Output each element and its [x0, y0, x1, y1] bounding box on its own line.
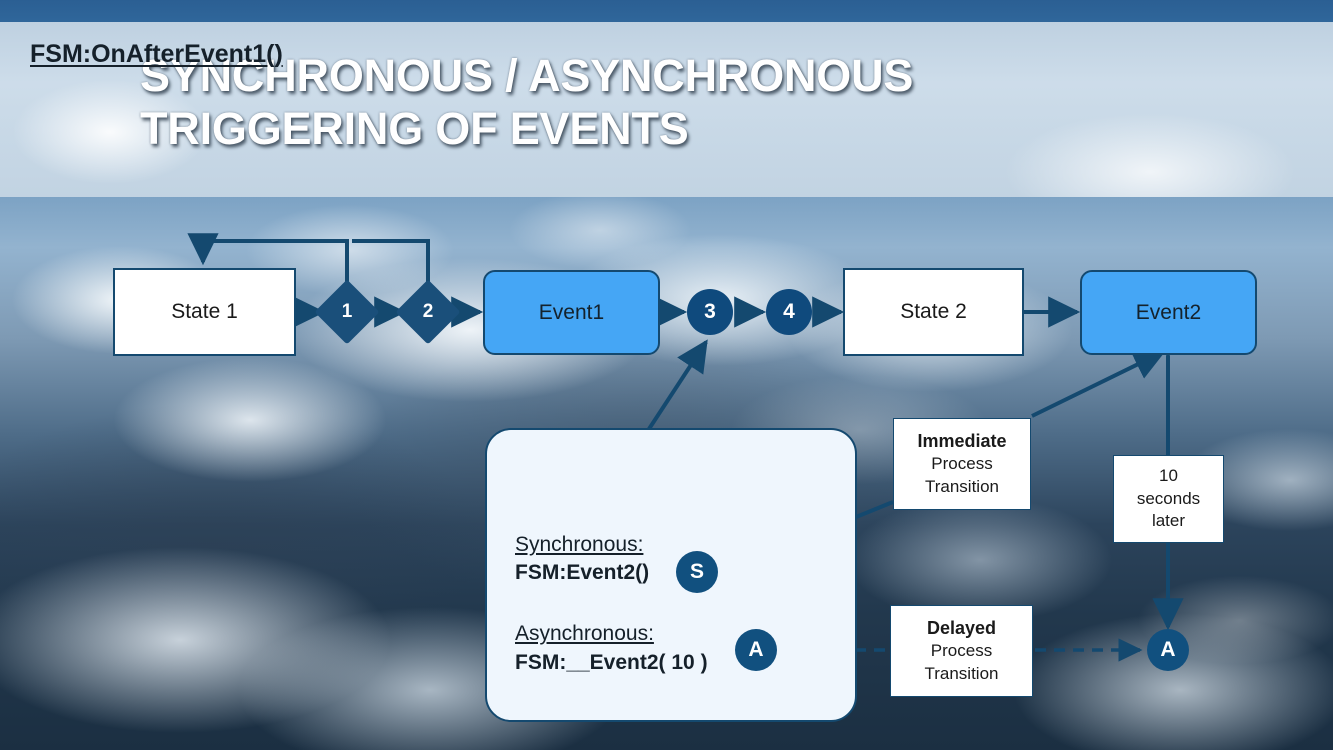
immediate-line-3: Transition — [925, 476, 999, 498]
delayed-title: Delayed — [927, 617, 996, 641]
delayed-marker-a[interactable]: A — [1147, 629, 1189, 671]
immediate-title: Immediate — [917, 430, 1006, 454]
sync-marker-s[interactable]: S — [676, 551, 718, 593]
timer-line-3: later — [1152, 510, 1185, 532]
decision-3-label: 3 — [704, 300, 716, 324]
event-1-label: Event1 — [539, 301, 604, 325]
synchronous-code: FSM:Event2() — [515, 561, 649, 585]
timer-line-2: seconds — [1137, 488, 1200, 510]
event-2-label: Event2 — [1136, 301, 1201, 325]
delayed-line-3: Transition — [924, 663, 998, 685]
state-2-box[interactable]: State 2 — [843, 268, 1024, 356]
delayed-marker-label: A — [1160, 638, 1175, 662]
state-2-label: State 2 — [900, 300, 967, 324]
decision-4-label: 4 — [783, 300, 795, 324]
immediate-line-2: Process — [931, 453, 992, 475]
event-1-box[interactable]: Event1 — [483, 270, 660, 355]
async-marker-label: A — [748, 638, 763, 662]
synchronous-label: Synchronous: — [515, 533, 643, 557]
delayed-transition-box[interactable]: Delayed Process Transition — [890, 605, 1033, 697]
state-1-box[interactable]: State 1 — [113, 268, 296, 356]
immediate-transition-box[interactable]: Immediate Process Transition — [893, 418, 1031, 510]
timer-box[interactable]: 10 seconds later — [1113, 455, 1224, 543]
fsm-callout-title: FSM:OnAfterEvent1() — [30, 40, 283, 69]
slide-title: SYNCHRONOUS / ASYNCHRONOUS TRIGGERING OF… — [140, 50, 1200, 155]
state-1-label: State 1 — [171, 300, 238, 324]
timer-line-1: 10 — [1159, 465, 1178, 487]
sync-marker-label: S — [690, 560, 704, 584]
async-marker-a[interactable]: A — [735, 629, 777, 671]
slide-canvas: SYNCHRONOUS / ASYNCHRONOUS TRIGGERING OF… — [0, 0, 1333, 750]
decision-4-circle[interactable]: 4 — [766, 289, 812, 335]
asynchronous-label: Asynchronous: — [515, 622, 654, 646]
decision-2-label: 2 — [405, 289, 451, 335]
event-2-box[interactable]: Event2 — [1080, 270, 1257, 355]
delayed-line-2: Process — [931, 640, 992, 662]
asynchronous-code: FSM:__Event2( 10 ) — [515, 651, 708, 675]
decision-3-circle[interactable]: 3 — [687, 289, 733, 335]
decision-1-label: 1 — [324, 289, 370, 335]
